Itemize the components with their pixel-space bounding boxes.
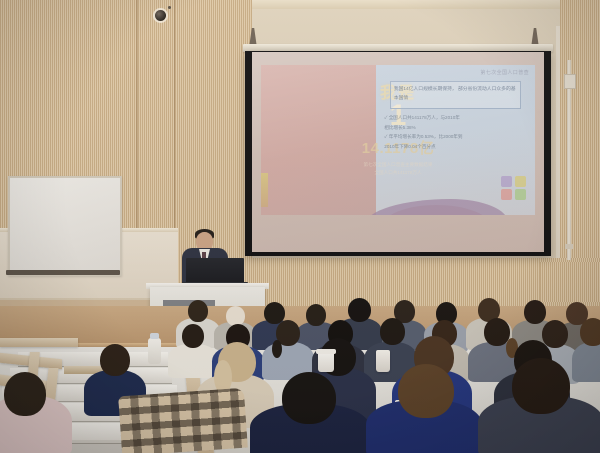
attendee-head: [398, 364, 454, 418]
color-square-green: [515, 189, 526, 200]
lecture-hall-photo: 我是 1 14.1178亿 第七次全国人口普查主要数据结果 全国人口共14117…: [0, 0, 600, 453]
patterned-bag: [118, 388, 248, 453]
wall-sensor-icon: [168, 6, 171, 9]
attendee-head: [542, 320, 568, 348]
wood-wall-right-lower: [540, 262, 600, 302]
presentation-slide: 我是 1 14.1178亿 第七次全国人口普查主要数据结果 全国人口共14117…: [261, 65, 535, 215]
slide-bullet-3: 2010年下降0.04个百分点: [384, 142, 526, 152]
wall-speaker-icon: [155, 10, 166, 21]
slide-callout-text: 我国14亿人口规模长期保持， 部分省份流动人口众多的基本国情: [394, 86, 517, 103]
attendee-head: [348, 298, 371, 322]
color-square-red: [501, 189, 512, 200]
attendee-head: [512, 358, 570, 414]
slide-accent-band: [261, 173, 268, 207]
attendee-head: [580, 318, 600, 346]
attendee-ponytail: [272, 340, 282, 358]
slide-bullet-0: ✓ 全国人口共141178万人，与2010年: [384, 113, 526, 123]
wood-wall-right: [560, 0, 600, 300]
attendee-head: [100, 344, 130, 376]
conduit-clip: [565, 244, 573, 249]
attendee-head: [306, 304, 326, 326]
wall-conduit: [567, 60, 571, 260]
attendee-head: [226, 306, 245, 326]
attendee-body: [168, 344, 218, 378]
slide-bullet-list: ✓ 全国人口共141178万人，与2010年 相比增长5.38% ✓ 年平均增长…: [384, 113, 526, 152]
attendee-head: [380, 318, 405, 345]
slide-color-squares: [501, 176, 527, 201]
paper-cup: [318, 352, 334, 372]
bottle-cap: [150, 333, 159, 339]
whiteboard: [8, 176, 122, 276]
attendee-head: [188, 300, 208, 322]
laptop-screen: [186, 258, 244, 284]
wood-panel-seam: [136, 0, 138, 232]
paper-cup: [376, 350, 390, 372]
slide-bullet-1: 相比增长5.38%: [384, 123, 526, 133]
slide-callout-box: 我国14亿人口规模长期保持， 部分省份流动人口众多的基本国情: [390, 81, 521, 109]
water-bottle: [148, 338, 161, 364]
attendee-body: [572, 342, 600, 382]
whiteboard-marker-tray: [6, 270, 120, 275]
color-square-purple: [501, 176, 512, 187]
slide-bullet-2: ✓ 年平均增长率为0.53%，比2000年到: [384, 132, 526, 142]
projection-screen: 我是 1 14.1178亿 第七次全国人口普查主要数据结果 全国人口共14117…: [252, 52, 544, 252]
wall-junction-box: [564, 74, 576, 89]
color-square-yellow: [515, 176, 526, 187]
desk-row-left-1: [0, 338, 78, 347]
slide-caption-line2: 全国人口共141178万人: [267, 169, 529, 177]
attendee-head: [182, 324, 204, 348]
slide-caption-line1: 第七次全国人口普查主要数据结果: [267, 161, 529, 169]
slide-logo: 第七次全国人口普查: [480, 69, 529, 76]
attendee-head: [524, 300, 546, 324]
cup-lid: [316, 349, 336, 354]
attendee-head: [282, 372, 336, 424]
attendee-head: [4, 372, 46, 416]
